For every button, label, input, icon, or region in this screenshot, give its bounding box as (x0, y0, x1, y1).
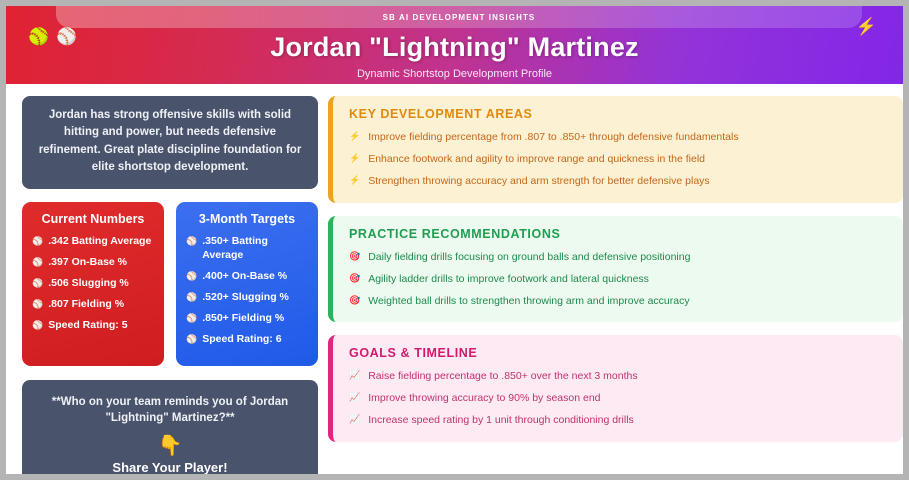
right-column: Key Development Areas ⚡ Improve fielding… (326, 96, 903, 474)
three-month-targets-title: 3-Month Targets (186, 212, 308, 226)
stat-value: .506 Slugging % (48, 277, 129, 291)
section-title: Practice Recommendations (349, 227, 889, 241)
target-icon: 🎯 (349, 294, 360, 307)
chart-increasing-icon: 📈 (349, 391, 360, 404)
page-subtitle: Dynamic Shortstop Development Profile (6, 68, 903, 80)
list-item-text: Improve throwing accuracy to 90% by seas… (368, 391, 600, 405)
list-item: ⚾ .520+ Slugging % (186, 291, 308, 305)
list-item: ⚡ Enhance footwork and agility to improv… (349, 152, 889, 166)
baseball-icon: ⚾ (186, 270, 197, 283)
list-item: ⚾ .350+ Batting Average (186, 235, 308, 263)
list-item: ⚾ Speed Rating: 6 (186, 333, 308, 347)
section-title: Key Development Areas (349, 107, 889, 121)
pointing-down-icon: 👇 (36, 436, 304, 456)
list-item: 📈 Improve throwing accuracy to 90% by se… (349, 391, 889, 405)
baseball-icon: ⚾ (186, 291, 197, 304)
baseball-icon: ⚾ (32, 235, 43, 248)
list-item: ⚾ .807 Fielding % (32, 298, 154, 312)
list-item-text: Enhance footwork and agility to improve … (368, 152, 705, 166)
goals-timeline-list: 📈 Raise fielding percentage to .850+ ove… (349, 369, 889, 428)
list-item-text: Weighted ball drills to strengthen throw… (368, 294, 689, 308)
chart-increasing-icon: 📈 (349, 413, 360, 426)
lightning-bolt-icon: ⚡ (349, 130, 360, 143)
stat-value: .397 On-Base % (48, 256, 127, 270)
summary-card: Jordan has strong offensive skills with … (22, 96, 318, 189)
stat-value: .350+ Batting Average (202, 235, 308, 263)
stat-value: .400+ On-Base % (202, 270, 287, 284)
baseball-icon: ⚾ (32, 256, 43, 269)
list-item: 📈 Increase speed rating by 1 unit throug… (349, 413, 889, 427)
list-item: ⚾ .397 On-Base % (32, 256, 154, 270)
target-icon: 🎯 (349, 272, 360, 285)
goals-timeline-section: Goals & Timeline 📈 Raise fielding percen… (328, 335, 903, 442)
share-question: **Who on your team reminds you of Jordan… (36, 394, 304, 427)
key-development-areas-list: ⚡ Improve fielding percentage from .807 … (349, 130, 889, 189)
stat-value: .850+ Fielding % (202, 312, 284, 326)
player-profile-page: SB AI Development Insights 🥎 ⚾ ⚡ Jordan … (6, 6, 903, 474)
list-item: ⚾ .400+ On-Base % (186, 270, 308, 284)
page-title: Jordan "Lightning" Martinez (6, 32, 903, 63)
list-item-text: Agility ladder drills to improve footwor… (368, 272, 649, 286)
list-item: 🎯 Daily fielding drills focusing on grou… (349, 250, 889, 264)
three-month-targets-card: 3-Month Targets ⚾ .350+ Batting Average … (176, 202, 318, 366)
baseball-icon: ⚾ (186, 235, 197, 248)
stat-value: .342 Batting Average (48, 235, 151, 249)
list-item: 📈 Raise fielding percentage to .850+ ove… (349, 369, 889, 383)
left-column: Jordan has strong offensive skills with … (6, 96, 326, 474)
summary-text: Jordan has strong offensive skills with … (39, 109, 302, 173)
list-item: ⚾ Speed Rating: 5 (32, 319, 154, 333)
section-title: Goals & Timeline (349, 346, 889, 360)
list-item-text: Strengthen throwing accuracy and arm str… (368, 174, 709, 188)
baseball-icon: ⚾ (32, 277, 43, 290)
list-item: 🎯 Agility ladder drills to improve footw… (349, 272, 889, 286)
lightning-bolt-icon: ⚡ (349, 174, 360, 187)
list-item: ⚾ .506 Slugging % (32, 277, 154, 291)
baseball-icon: ⚾ (32, 319, 43, 332)
list-item: 🎯 Weighted ball drills to strengthen thr… (349, 294, 889, 308)
baseball-icon: ⚾ (186, 312, 197, 325)
current-numbers-list: ⚾ .342 Batting Average ⚾ .397 On-Base % … (32, 235, 154, 333)
brand-ribbon-label: SB AI Development Insights (383, 13, 536, 22)
practice-recommendations-list: 🎯 Daily fielding drills focusing on grou… (349, 250, 889, 309)
list-item-text: Raise fielding percentage to .850+ over … (368, 369, 637, 383)
baseball-icon: ⚾ (32, 298, 43, 311)
lightning-bolt-icon: ⚡ (349, 152, 360, 165)
current-numbers-card: Current Numbers ⚾ .342 Batting Average ⚾… (22, 202, 164, 366)
list-item-text: Increase speed rating by 1 unit through … (368, 413, 634, 427)
stat-value: .520+ Slugging % (202, 291, 289, 305)
chart-increasing-icon: 📈 (349, 369, 360, 382)
key-development-areas-section: Key Development Areas ⚡ Improve fielding… (328, 96, 903, 203)
current-numbers-title: Current Numbers (32, 212, 154, 226)
stats-row: Current Numbers ⚾ .342 Batting Average ⚾… (22, 202, 318, 366)
profile-header: SB AI Development Insights 🥎 ⚾ ⚡ Jordan … (6, 6, 903, 84)
three-month-targets-list: ⚾ .350+ Batting Average ⚾ .400+ On-Base … (186, 235, 308, 347)
stat-value: .807 Fielding % (48, 298, 124, 312)
list-item: ⚡ Strengthen throwing accuracy and arm s… (349, 174, 889, 188)
list-item-text: Daily fielding drills focusing on ground… (368, 250, 690, 264)
share-player-card: **Who on your team reminds you of Jordan… (22, 380, 318, 474)
brand-ribbon: SB AI Development Insights (56, 6, 862, 28)
target-icon: 🎯 (349, 250, 360, 263)
list-item-text: Improve fielding percentage from .807 to… (368, 130, 738, 144)
profile-body: Jordan has strong offensive skills with … (6, 84, 903, 474)
stat-value: Speed Rating: 6 (202, 333, 281, 347)
list-item: ⚡ Improve fielding percentage from .807 … (349, 130, 889, 144)
list-item: ⚾ .342 Batting Average (32, 235, 154, 249)
list-item: ⚾ .850+ Fielding % (186, 312, 308, 326)
share-player-cta[interactable]: Share Your Player! (36, 460, 304, 474)
baseball-icon: ⚾ (186, 333, 197, 346)
stat-value: Speed Rating: 5 (48, 319, 127, 333)
practice-recommendations-section: Practice Recommendations 🎯 Daily fieldin… (328, 216, 903, 323)
